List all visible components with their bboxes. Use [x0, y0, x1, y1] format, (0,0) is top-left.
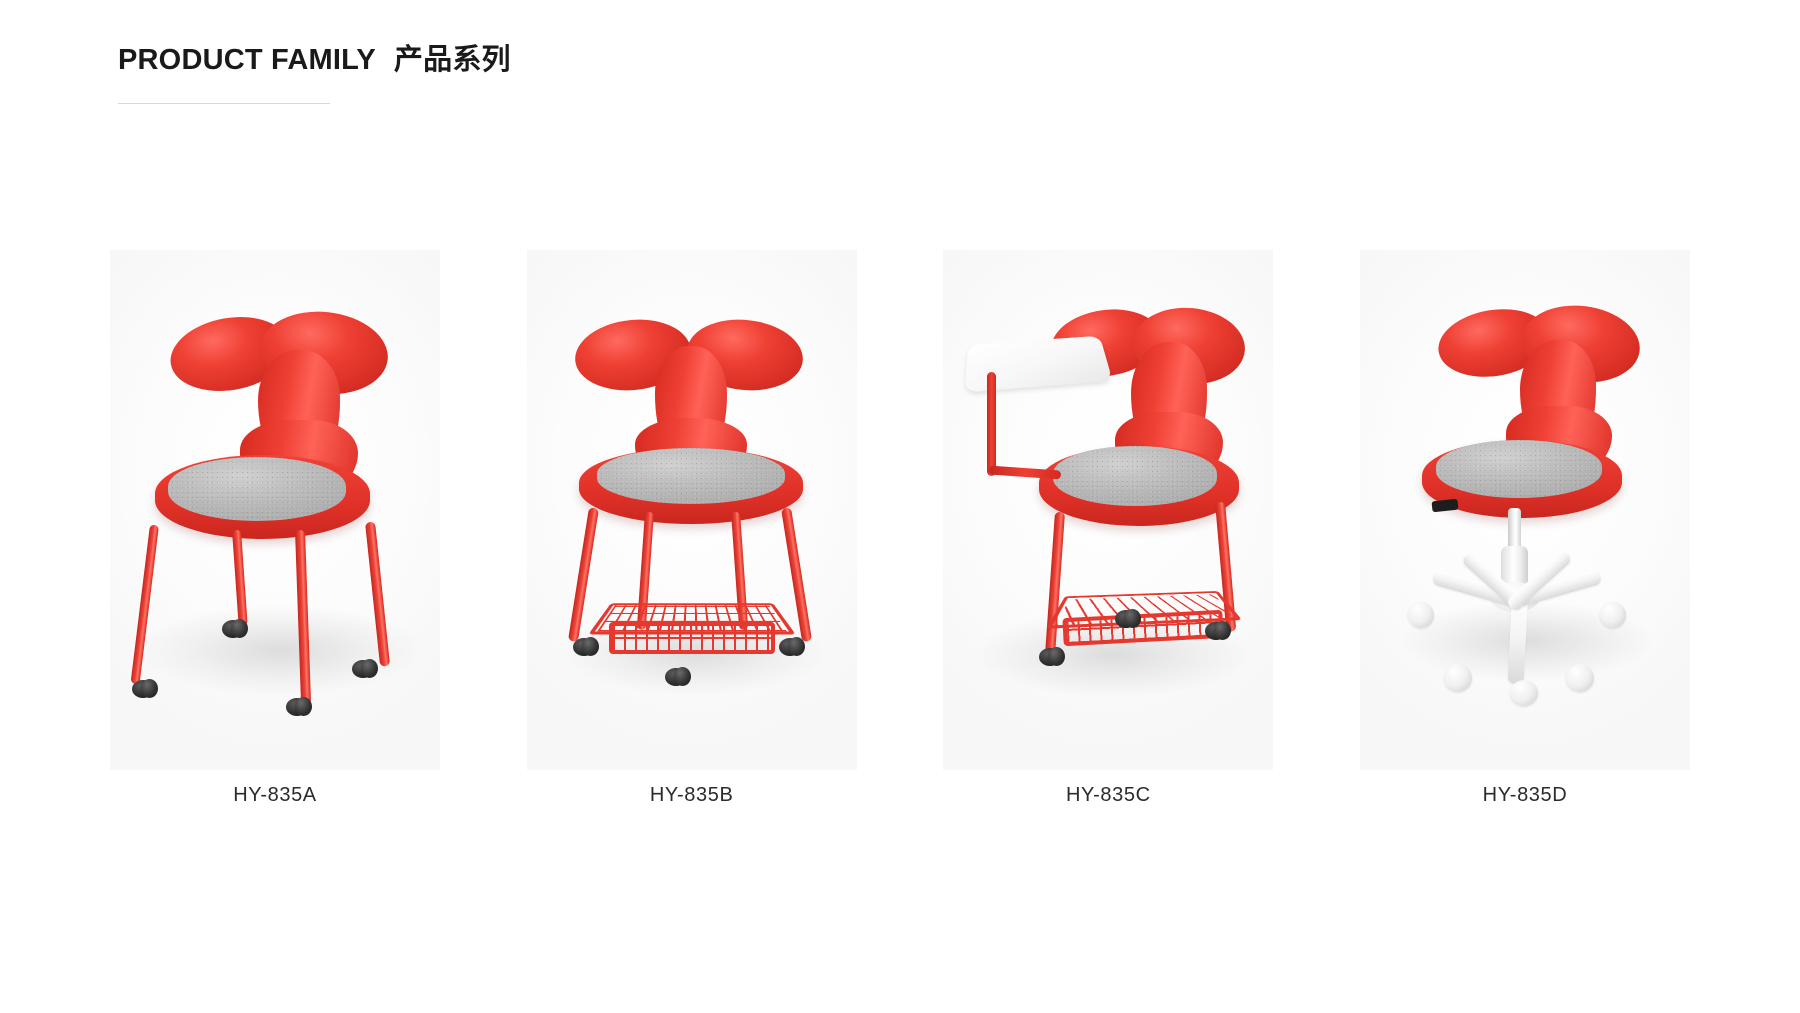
- caster-rear-right: [352, 660, 374, 678]
- caster-base-front-left: [1444, 664, 1472, 692]
- caster-front-center: [222, 620, 244, 638]
- caster-rear-center: [286, 698, 308, 716]
- caster-rear-left: [1115, 610, 1137, 628]
- page-header: PRODUCT FAMILY产品系列: [118, 46, 511, 75]
- product-image-hy-835b: [527, 250, 857, 770]
- title-underline-rule: [118, 103, 330, 104]
- caster-rear-right: [1205, 622, 1227, 640]
- product-label-hy-835c: HY-835C: [943, 784, 1273, 807]
- caster-front-left: [132, 680, 154, 698]
- chair-illustration-d: [1360, 250, 1690, 770]
- gas-lift-spindle: [1508, 508, 1521, 550]
- product-card-hy-835c[interactable]: HY-835C: [943, 250, 1273, 807]
- product-image-hy-835d: [1360, 250, 1690, 770]
- product-label-hy-835d: HY-835D: [1360, 784, 1690, 807]
- product-card-hy-835d[interactable]: HY-835D: [1360, 250, 1690, 807]
- caster-base-front-right: [1566, 664, 1594, 692]
- caster-center-front: [665, 668, 687, 686]
- seat-cushion: [597, 448, 785, 504]
- seat-cushion: [168, 457, 346, 521]
- product-image-hy-835a: [110, 250, 440, 770]
- product-label-hy-835a: HY-835A: [110, 784, 440, 807]
- product-label-hy-835b: HY-835B: [527, 784, 857, 807]
- seat-cushion: [1053, 446, 1217, 506]
- chair-illustration-c: [943, 250, 1273, 770]
- wire-storage-basket: [589, 592, 795, 676]
- caster-base-left: [1408, 602, 1434, 628]
- product-image-hy-835c: [943, 250, 1273, 770]
- height-adjustment-lever[interactable]: [1431, 499, 1458, 513]
- product-family-page: PRODUCT FAMILY产品系列: [0, 0, 1800, 1013]
- caster-front-left: [1039, 648, 1061, 666]
- tablet-arm-vertical-post: [987, 372, 996, 476]
- caster-base-rear: [1510, 680, 1538, 706]
- product-card-hy-835b[interactable]: HY-835B: [527, 250, 857, 807]
- chair-illustration-a: [110, 250, 440, 770]
- product-card-hy-835a[interactable]: HY-835A: [110, 250, 440, 807]
- page-title-english: PRODUCT FAMILY: [118, 44, 376, 76]
- basket-bottom-rim: [609, 622, 775, 654]
- caster-left-front: [573, 638, 595, 656]
- seat-cushion: [1436, 440, 1602, 498]
- page-title: PRODUCT FAMILY产品系列: [118, 46, 511, 75]
- chair-illustration-b: [527, 250, 857, 770]
- page-title-chinese: 产品系列: [394, 44, 511, 76]
- caster-right-front: [779, 638, 801, 656]
- caster-base-right: [1600, 602, 1626, 628]
- product-grid: HY-835A: [110, 250, 1690, 870]
